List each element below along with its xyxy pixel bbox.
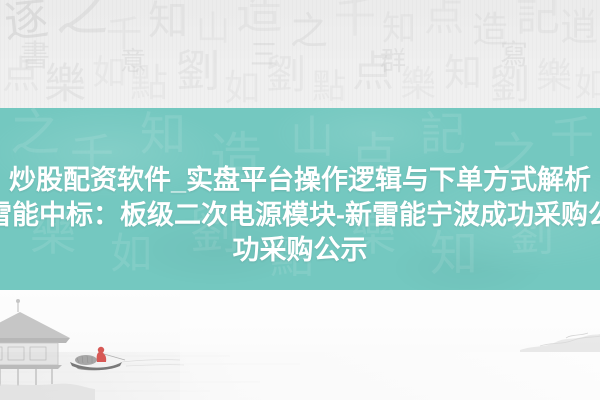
headline-line-2: 新雷能中标：板级二次电源模块-新雷能宁波成功采购公示 — [0, 198, 600, 233]
svg-text:意: 意 — [120, 47, 146, 77]
headline-line-3: 功采购公示 — [0, 233, 600, 268]
ink-wash-landscape — [0, 290, 600, 400]
headline-text: 炒股配资软件_实盘平台操作逻辑与下单方式解析 新雷能中标：板级二次电源模块-新雷… — [0, 163, 600, 268]
calligraphy-texture-band: 逐 之 千 知 山 造 之 千 知 点 造 記 逍 点 樂 如 點 劉 如 劉 — [0, 0, 600, 110]
headline-band: 之 千 知 造 山 点 記 之 千 樂 如 劉 點 樂 知 劉 炒股配资软件_实… — [0, 108, 600, 290]
headline-line-1: 炒股配资软件_实盘平台操作逻辑与下单方式解析 — [0, 163, 600, 198]
svg-text:寫: 寫 — [500, 38, 528, 71]
article-banner: 逐 之 千 知 山 造 之 千 知 点 造 記 逍 点 樂 如 點 劉 如 劉 — [0, 0, 600, 400]
svg-text:三: 三 — [250, 38, 278, 71]
landscape-artwork — [0, 290, 600, 400]
calligraphy-glyphs-top: 逐 之 千 知 山 造 之 千 知 点 造 記 逍 点 樂 如 點 劉 如 劉 — [0, 0, 600, 110]
svg-text:書: 書 — [20, 39, 50, 74]
svg-text:群: 群 — [380, 47, 406, 77]
